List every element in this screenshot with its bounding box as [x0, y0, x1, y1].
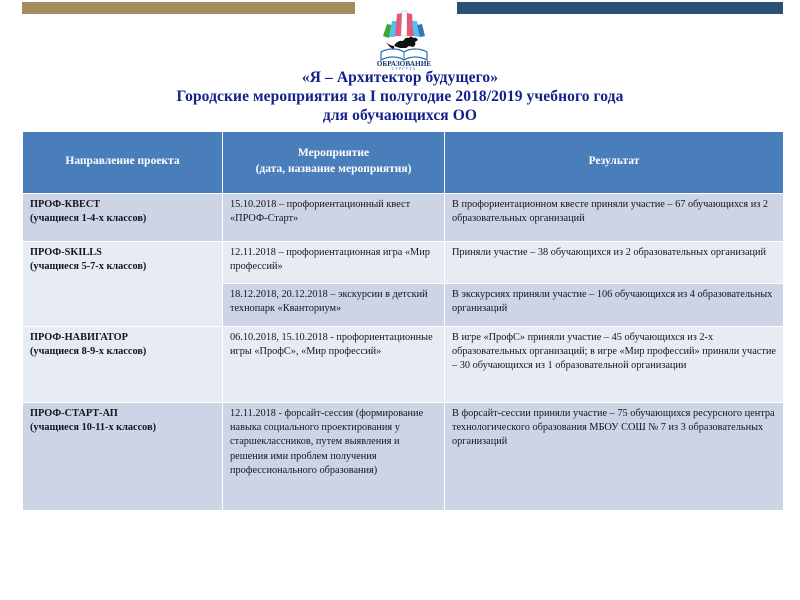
decorative-bar-left: [22, 2, 355, 14]
cell-direction: ПРОФ-SKILLS (учащиеся 5-7-х классов): [23, 242, 223, 327]
table-body: ПРОФ-КВЕСТ (учащиеся 1-4-х классов) 15.1…: [23, 194, 784, 511]
cell-result: В профориентационном квесте приняли учас…: [445, 194, 784, 242]
cell-event: 12.11.2018 - форсайт-сессия (формировани…: [223, 403, 445, 511]
direction-grades: (учащиеся 8-9-х классов): [30, 345, 215, 359]
decorative-bar-right: [457, 2, 783, 14]
column-header-event: Мероприятие (дата, название мероприятия): [223, 132, 445, 194]
direction-grades: (учащиеся 5-7-х классов): [30, 260, 215, 274]
table-row: ПРОФ-СТАРТ-АП (учащиеся 10-11-х классов)…: [23, 403, 784, 511]
direction-grades: (учащиеся 10-11-х классов): [30, 421, 215, 435]
title-line-3: для обучающихся ОО: [0, 106, 800, 125]
cell-direction: ПРОФ-КВЕСТ (учащиеся 1-4-х классов): [23, 194, 223, 242]
cell-result: В форсайт-сессии приняли участие – 75 об…: [445, 403, 784, 511]
table-header-row: Направление проекта Мероприятие (дата, н…: [23, 132, 784, 194]
title-line-1: «Я – Архитектор будущего»: [0, 68, 800, 87]
events-table: Направление проекта Мероприятие (дата, н…: [22, 131, 784, 511]
column-header-event-line1: Мероприятие: [229, 145, 438, 161]
cell-event: 06.10.2018, 15.10.2018 - профориентацион…: [223, 327, 445, 403]
cell-direction: ПРОФ-СТАРТ-АП (учащиеся 10-11-х классов): [23, 403, 223, 511]
slide-canvas: ОБРАЗОВАНИЕ СУРГУТА «Я – Архитектор буду…: [0, 0, 800, 600]
cell-direction: ПРОФ-НАВИГАТОР (учащиеся 8-9-х классов): [23, 327, 223, 403]
direction-name: ПРОФ-НАВИГАТОР: [30, 331, 215, 345]
direction-name: ПРОФ-СТАРТ-АП: [30, 407, 215, 421]
obrazovanie-surguta-logo: ОБРАЗОВАНИЕ СУРГУТА: [376, 2, 432, 70]
column-header-event-line2: (дата, название мероприятия): [229, 161, 438, 177]
cell-event: 12.11.2018 – профориентационная игра «Ми…: [223, 242, 445, 284]
events-table-wrapper: Направление проекта Мероприятие (дата, н…: [22, 131, 783, 511]
column-header-direction: Направление проекта: [23, 132, 223, 194]
cell-event: 15.10.2018 – профориентационный квест «П…: [223, 194, 445, 242]
title-line-2: Городские мероприятия за I полугодие 201…: [0, 87, 800, 106]
cell-result: В экскурсиях приняли участие – 106 обуча…: [445, 284, 784, 327]
table-row: ПРОФ-КВЕСТ (учащиеся 1-4-х классов) 15.1…: [23, 194, 784, 242]
direction-name: ПРОФ-КВЕСТ: [30, 198, 215, 212]
direction-grades: (учащиеся 1-4-х классов): [30, 212, 215, 226]
table-row: ПРОФ-SKILLS (учащиеся 5-7-х классов) 12.…: [23, 242, 784, 284]
cell-event: 18.12.2018, 20.12.2018 – экскурсии в дет…: [223, 284, 445, 327]
cell-result: В игре «ПрофС» приняли участие – 45 обуч…: [445, 327, 784, 403]
column-header-result: Результат: [445, 132, 784, 194]
cell-result: Приняли участие – 38 обучающихся из 2 об…: [445, 242, 784, 284]
page-title: «Я – Архитектор будущего» Городские меро…: [0, 68, 800, 125]
direction-name: ПРОФ-SKILLS: [30, 246, 215, 260]
table-row: ПРОФ-НАВИГАТОР (учащиеся 8-9-х классов) …: [23, 327, 784, 403]
